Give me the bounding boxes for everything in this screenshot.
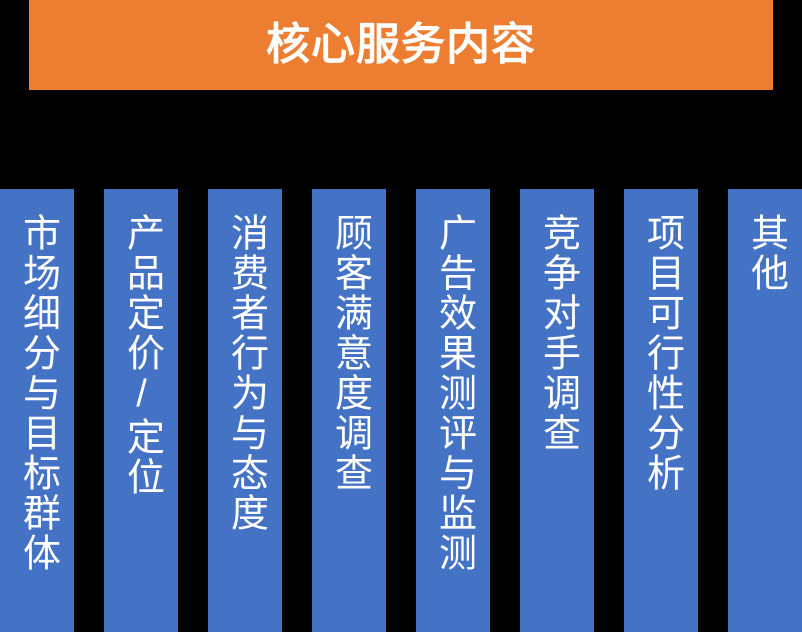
service-column-label-4: 顾客满意度调查 <box>328 213 369 493</box>
service-column-5[interactable]: 广告效果测评与监测 <box>416 189 490 632</box>
service-column-label-2: 产品定价/定位 <box>120 213 161 497</box>
service-column-6[interactable]: 竞争对手调查 <box>520 189 594 632</box>
service-column-8[interactable]: 其他 <box>728 189 802 632</box>
service-column-label-5: 广告效果测评与监测 <box>432 213 473 573</box>
header-banner: 核心服务内容 <box>29 0 773 90</box>
service-column-3[interactable]: 消费者行为与态度 <box>208 189 282 632</box>
service-column-4[interactable]: 顾客满意度调查 <box>312 189 386 632</box>
service-column-7[interactable]: 项目可行性分析 <box>624 189 698 632</box>
service-column-label-8: 其他 <box>744 213 785 293</box>
service-columns-row: 市场细分与目标群体 产品定价/定位 消费者行为与态度 顾客满意度调查 广告效果测… <box>0 189 802 632</box>
page-title: 核心服务内容 <box>266 23 536 67</box>
service-column-label-1: 市场细分与目标群体 <box>16 213 57 573</box>
service-column-label-7: 项目可行性分析 <box>640 213 681 493</box>
slide-canvas: 核心服务内容 市场细分与目标群体 产品定价/定位 消费者行为与态度 顾客满意度调… <box>0 0 802 632</box>
service-column-1[interactable]: 市场细分与目标群体 <box>0 189 74 632</box>
service-column-label-3: 消费者行为与态度 <box>224 213 265 533</box>
service-column-2[interactable]: 产品定价/定位 <box>104 189 178 632</box>
service-column-label-6: 竞争对手调查 <box>536 213 577 453</box>
